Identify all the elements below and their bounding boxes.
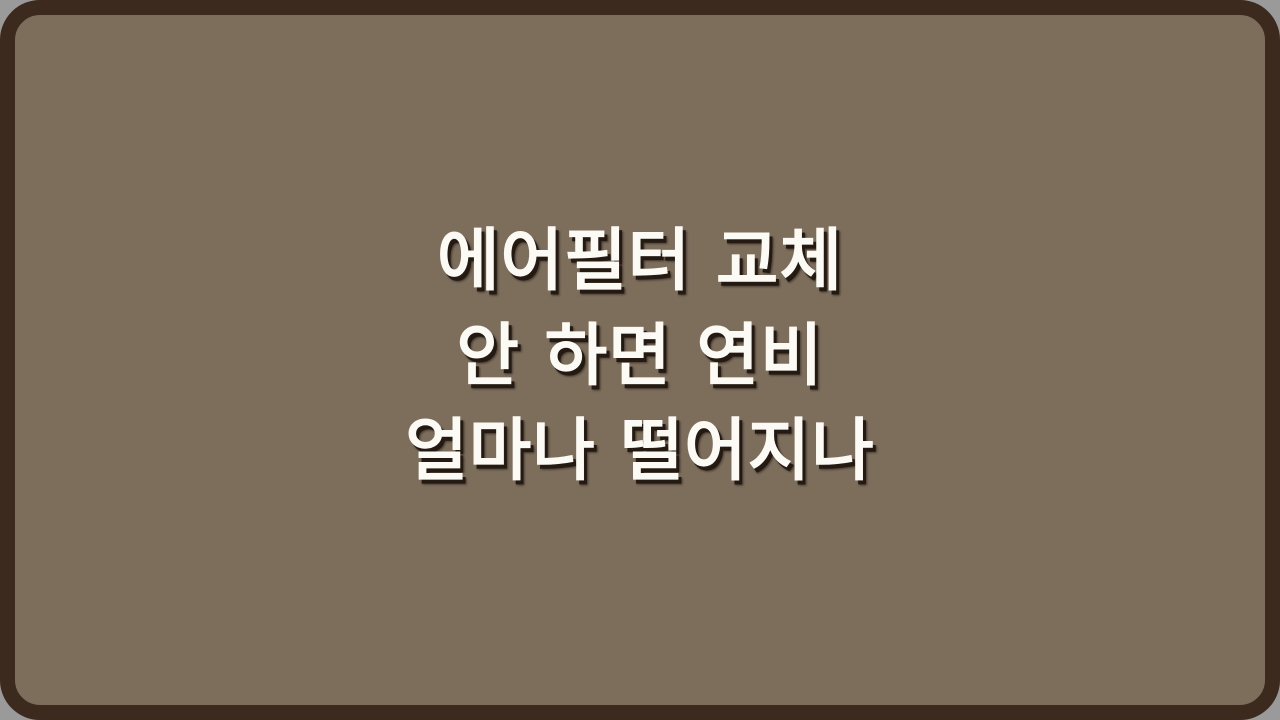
thumbnail-card: 에어필터 교체 안 하면 연비 얼마나 떨어지나: [0, 0, 1280, 720]
headline-line-3: 얼마나 떨어지나: [15, 404, 1265, 499]
headline-line-2: 안 하면 연비: [15, 309, 1265, 404]
headline-line-1: 에어필터 교체: [15, 214, 1265, 309]
headline-text-block: 에어필터 교체 안 하면 연비 얼마나 떨어지나: [15, 214, 1265, 507]
